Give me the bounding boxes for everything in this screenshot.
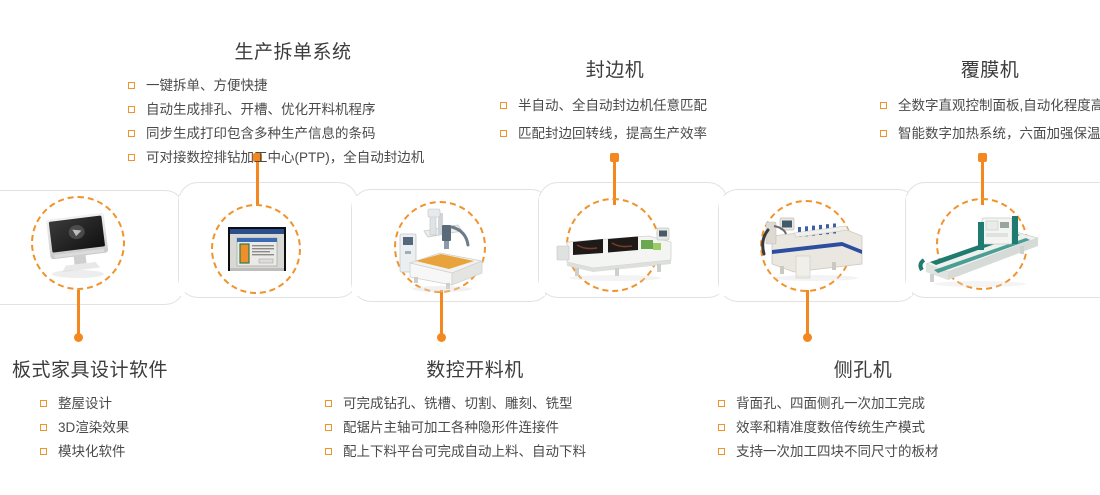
list-split-order-system: 一键拆单、方便快捷 自动生成排孔、开槽、优化开料机程序 同步生成打印包含多种生产… bbox=[128, 74, 458, 170]
list-item: 模块化软件 bbox=[40, 440, 272, 464]
list-item-label: 3D渲染效果 bbox=[58, 420, 129, 435]
bullet-square-icon bbox=[325, 448, 332, 455]
heading-design-software: 板式家具设计软件 bbox=[12, 355, 272, 382]
connector-dot bbox=[978, 153, 987, 162]
list-item-label: 同步生成打印包含多种生产信息的条码 bbox=[146, 126, 376, 141]
list-item-label: 半自动、全自动封边机任意匹配 bbox=[518, 98, 707, 113]
bullet-square-icon bbox=[128, 82, 135, 89]
node-side-hole-machine[interactable] bbox=[760, 200, 852, 292]
ribbon-seam bbox=[352, 196, 358, 296]
bullet-square-icon bbox=[718, 448, 725, 455]
bullet-square-icon bbox=[718, 400, 725, 407]
bullet-square-icon bbox=[40, 400, 47, 407]
list-item-label: 一键拆单、方便快捷 bbox=[146, 78, 268, 93]
list-item: 匹配封边回转线，提高生产效率 bbox=[500, 120, 730, 148]
bullet-square-icon bbox=[880, 130, 887, 137]
list-item-label: 配上下料平台可完成自动上料、自动下料 bbox=[343, 444, 586, 459]
list-item-label: 智能数字加热系统，六面加强保温 bbox=[898, 126, 1100, 141]
list-side-hole-machine: 背面孔、四面侧孔一次加工完成 效率和精准度数倍传统生产模式 支持一次加工四块不同… bbox=[718, 392, 1008, 464]
list-item-label: 效率和精准度数倍传统生产模式 bbox=[736, 420, 925, 435]
laminating-machine-icon bbox=[936, 198, 1028, 290]
connector-dot bbox=[610, 153, 619, 162]
ribbon-seam bbox=[719, 196, 725, 296]
list-edge-banding-machine: 半自动、全自动封边机任意匹配 匹配封边回转线，提高生产效率 bbox=[500, 92, 730, 148]
desktop-computer-icon bbox=[31, 196, 125, 290]
list-item: 3D渲染效果 bbox=[40, 416, 272, 440]
list-item: 支持一次加工四块不同尺寸的板材 bbox=[718, 440, 1008, 464]
text-block-cnc-cutting-machine: 数控开料机 可完成钻孔、铣槽、切割、雕刻、铣型 配锯片主轴可加工各种隐形件连接件… bbox=[325, 355, 625, 464]
list-item-label: 自动生成排孔、开槽、优化开料机程序 bbox=[146, 102, 376, 117]
list-item-label: 匹配封边回转线，提高生产效率 bbox=[518, 126, 707, 141]
bullet-square-icon bbox=[500, 130, 507, 137]
bullet-square-icon bbox=[325, 400, 332, 407]
bullet-square-icon bbox=[128, 106, 135, 113]
cnc-router-machine-icon bbox=[394, 201, 486, 293]
text-block-side-hole-machine: 侧孔机 背面孔、四面侧孔一次加工完成 效率和精准度数倍传统生产模式 支持一次加工… bbox=[718, 355, 1008, 464]
text-block-split-order-system: 生产拆单系统 一键拆单、方便快捷 自动生成排孔、开槽、优化开料机程序 同步生成打… bbox=[128, 37, 458, 170]
connector-dot bbox=[74, 333, 83, 342]
list-item: 半自动、全自动封边机任意匹配 bbox=[500, 92, 730, 120]
text-block-laminating-machine: 覆膜机 全数字直观控制面板,自动化程度高 智能数字加热系统，六面加强保温 bbox=[880, 55, 1100, 148]
node-cnc-cutting-machine[interactable] bbox=[394, 201, 486, 293]
list-item: 配上下料平台可完成自动上料、自动下料 bbox=[325, 440, 625, 464]
node-split-order-system[interactable] bbox=[211, 204, 301, 294]
heading-split-order-system: 生产拆单系统 bbox=[128, 37, 458, 64]
list-item: 背面孔、四面侧孔一次加工完成 bbox=[718, 392, 1008, 416]
heading-edge-banding-machine: 封边机 bbox=[500, 55, 730, 82]
list-cnc-cutting-machine: 可完成钻孔、铣槽、切割、雕刻、铣型 配锯片主轴可加工各种隐形件连接件 配上下料平… bbox=[325, 392, 625, 464]
list-item-label: 背面孔、四面侧孔一次加工完成 bbox=[736, 396, 925, 411]
text-block-edge-banding-machine: 封边机 半自动、全自动封边机任意匹配 匹配封边回转线，提高生产效率 bbox=[500, 55, 730, 148]
list-item: 自动生成排孔、开槽、优化开料机程序 bbox=[128, 98, 458, 122]
list-item: 同步生成打印包含多种生产信息的条码 bbox=[128, 122, 458, 146]
ribbon-seam bbox=[539, 196, 545, 296]
bullet-square-icon bbox=[40, 424, 47, 431]
list-item: 效率和精准度数倍传统生产模式 bbox=[718, 416, 1008, 440]
list-item-label: 支持一次加工四块不同尺寸的板材 bbox=[736, 444, 939, 459]
list-item: 整屋设计 bbox=[40, 392, 272, 416]
edge-banding-machine-icon bbox=[566, 198, 660, 292]
list-item: 全数字直观控制面板,自动化程度高 bbox=[880, 92, 1100, 120]
list-item: 一键拆单、方便快捷 bbox=[128, 74, 458, 98]
list-item-label: 模块化软件 bbox=[58, 444, 126, 459]
bullet-square-icon bbox=[500, 102, 507, 109]
list-laminating-machine: 全数字直观控制面板,自动化程度高 智能数字加热系统，六面加强保温 bbox=[880, 92, 1100, 148]
list-item-label: 可完成钻孔、铣槽、切割、雕刻、铣型 bbox=[343, 396, 573, 411]
connector-dot bbox=[437, 333, 446, 342]
list-item-label: 可对接数控排钻加工中心(PTP)，全自动封边机 bbox=[146, 150, 424, 165]
list-item: 可完成钻孔、铣槽、切割、雕刻、铣型 bbox=[325, 392, 625, 416]
list-item-label: 全数字直观控制面板,自动化程度高 bbox=[898, 98, 1100, 113]
bullet-square-icon bbox=[880, 102, 887, 109]
heading-cnc-cutting-machine: 数控开料机 bbox=[325, 355, 625, 382]
list-item-label: 配锯片主轴可加工各种隐形件连接件 bbox=[343, 420, 559, 435]
ribbon-seam bbox=[179, 196, 185, 296]
list-item: 可对接数控排钻加工中心(PTP)，全自动封边机 bbox=[128, 146, 458, 170]
list-item: 智能数字加热系统，六面加强保温 bbox=[880, 120, 1100, 148]
text-block-design-software: 板式家具设计软件 整屋设计 3D渲染效果 模块化软件 bbox=[12, 355, 272, 464]
workflow-diagram: 生产拆单系统 一键拆单、方便快捷 自动生成排孔、开槽、优化开料机程序 同步生成打… bbox=[0, 0, 1100, 495]
heading-side-hole-machine: 侧孔机 bbox=[718, 355, 1008, 382]
side-drilling-machine-icon bbox=[760, 200, 852, 292]
bullet-square-icon bbox=[718, 424, 725, 431]
bullet-square-icon bbox=[128, 130, 135, 137]
software-screenshot-icon bbox=[211, 204, 301, 294]
node-laminating-machine[interactable] bbox=[936, 198, 1028, 290]
ribbon-seam bbox=[906, 196, 912, 296]
node-design-software[interactable] bbox=[31, 196, 125, 290]
list-item-label: 整屋设计 bbox=[58, 396, 112, 411]
node-edge-banding-machine[interactable] bbox=[566, 198, 660, 292]
connector-line-side-hole bbox=[806, 290, 809, 338]
connector-dot bbox=[803, 333, 812, 342]
bullet-square-icon bbox=[325, 424, 332, 431]
heading-laminating-machine: 覆膜机 bbox=[880, 55, 1100, 82]
bullet-square-icon bbox=[40, 448, 47, 455]
list-design-software: 整屋设计 3D渲染效果 模块化软件 bbox=[12, 392, 272, 464]
bullet-square-icon bbox=[128, 154, 135, 161]
connector-line-design-software bbox=[77, 290, 80, 338]
list-item: 配锯片主轴可加工各种隐形件连接件 bbox=[325, 416, 625, 440]
connector-line-cnc bbox=[440, 290, 443, 338]
